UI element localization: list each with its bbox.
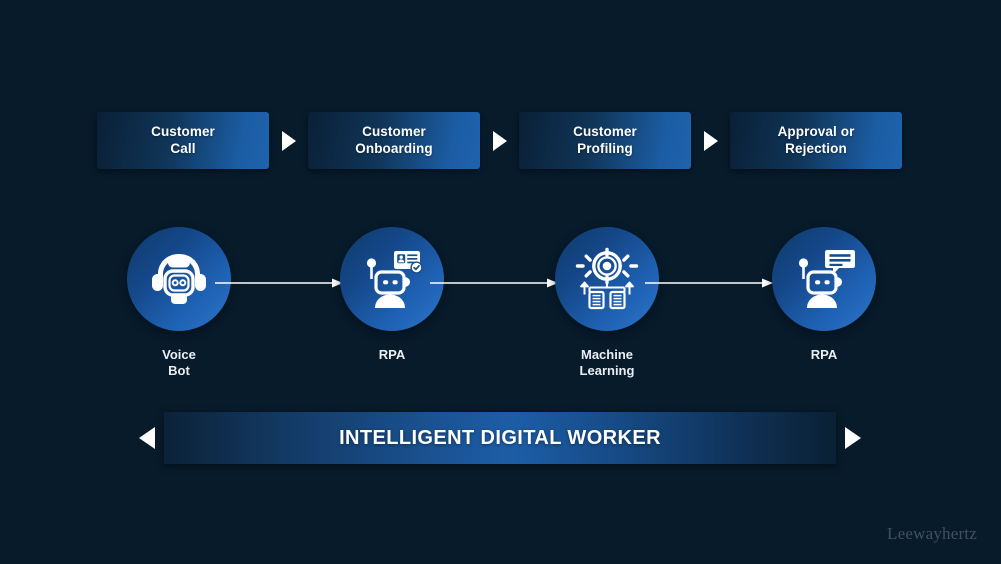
technology-node-row: Voice Bot bbox=[0, 227, 1001, 377]
process-step-customer-call[interactable]: Customer Call bbox=[97, 112, 269, 169]
triangle-right-icon bbox=[836, 425, 870, 451]
technology-node-voice-bot[interactable]: Voice Bot bbox=[104, 227, 254, 380]
process-step-label: Customer Call bbox=[151, 124, 215, 157]
gear-data-icon bbox=[555, 227, 659, 331]
diagram-canvas: Customer Call Customer Onboarding Custom… bbox=[0, 0, 1001, 564]
technology-node-rpa-approval[interactable]: RPA bbox=[749, 227, 899, 363]
banner-title: INTELLIGENT DIGITAL WORKER bbox=[339, 427, 661, 450]
technology-node-rpa-onboarding[interactable]: RPA bbox=[317, 227, 467, 363]
process-step-label: Customer Onboarding bbox=[355, 124, 433, 157]
process-step-approval-or-rejection[interactable]: Approval or Rejection bbox=[730, 112, 902, 169]
triangle-right-icon bbox=[691, 130, 730, 152]
process-step-label: Customer Profiling bbox=[573, 124, 637, 157]
technology-node-label: Machine Learning bbox=[532, 347, 682, 380]
process-step-label: Approval or Rejection bbox=[778, 124, 855, 157]
triangle-left-icon bbox=[130, 425, 164, 451]
technology-node-label: RPA bbox=[749, 347, 899, 363]
banner-bar: INTELLIGENT DIGITAL WORKER bbox=[164, 412, 836, 464]
watermark-logo: Leewayhertz bbox=[887, 524, 977, 544]
triangle-right-icon bbox=[480, 130, 519, 152]
process-step-row: Customer Call Customer Onboarding Custom… bbox=[97, 112, 903, 169]
intelligent-digital-worker-banner: INTELLIGENT DIGITAL WORKER bbox=[130, 412, 870, 464]
technology-node-machine-learning[interactable]: Machine Learning bbox=[532, 227, 682, 380]
process-step-customer-onboarding[interactable]: Customer Onboarding bbox=[308, 112, 480, 169]
robot-speech-bubble-icon bbox=[772, 227, 876, 331]
technology-node-label: Voice Bot bbox=[104, 347, 254, 380]
technology-node-label: RPA bbox=[317, 347, 467, 363]
triangle-right-icon bbox=[269, 130, 308, 152]
robot-id-card-icon bbox=[340, 227, 444, 331]
process-step-customer-profiling[interactable]: Customer Profiling bbox=[519, 112, 691, 169]
